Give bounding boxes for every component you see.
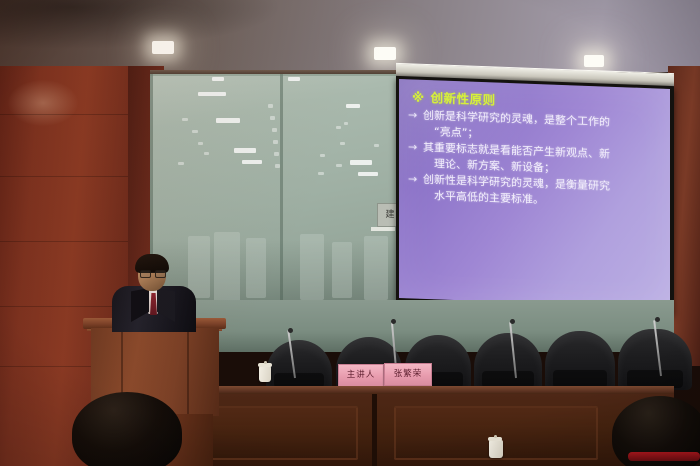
microphone-head [655,317,660,322]
microphone-head [288,328,293,333]
conference-hall-photo: 建 ※创新性原则 → 创新是科学研究的灵魂，是整个工作的 “亮点”； [0,0,700,466]
bullet-arrow-icon: → [408,139,423,171]
wall-sign-shelf [371,227,395,231]
audience-head [72,392,182,466]
ceiling-light [152,41,174,54]
slide-title: ※创新性原则 [412,86,496,108]
projection-screen: ※创新性原则 → 创新是科学研究的灵魂，是整个工作的 “亮点”； → 其重要标志… [396,63,674,321]
bullet-text: 创新性是科学研究的灵魂，是衡量研究 水平高低的主要标准。 [423,172,610,210]
ceiling-light [374,47,396,60]
nameplate-speaker-role: 主讲人 [338,364,384,387]
bullet-arrow-icon: → [408,107,423,139]
slide-title-mark: ※ [412,89,425,104]
ceiling-light [584,55,604,67]
microphone-head [510,319,515,324]
audience-red-collar [628,452,700,461]
bullet-arrow-icon: → [408,171,423,203]
slide-bullet-list: → 创新是科学研究的灵魂，是整个工作的 “亮点”； → 其重要标志就是看能否产生… [408,107,664,212]
microphone-head [391,319,396,324]
wall-light-glow [8,80,78,126]
stage-chair [545,331,615,390]
nameplate-speaker-name: 张繁荣 [384,363,432,386]
slide-title-text: 创新性原则 [431,90,496,107]
presentation-slide: ※创新性原则 → 创新是科学研究的灵魂，是整个工作的 “亮点”； → 其重要标志… [399,79,670,308]
teacup [259,366,271,382]
dais-front-panel [150,394,674,466]
teacup [489,440,503,458]
speaker-glasses [140,270,164,276]
dais-seam [372,394,377,466]
screen-board: ※创新性原则 → 创新是科学研究的灵魂，是整个工作的 “亮点”； → 其重要标志… [396,76,674,314]
